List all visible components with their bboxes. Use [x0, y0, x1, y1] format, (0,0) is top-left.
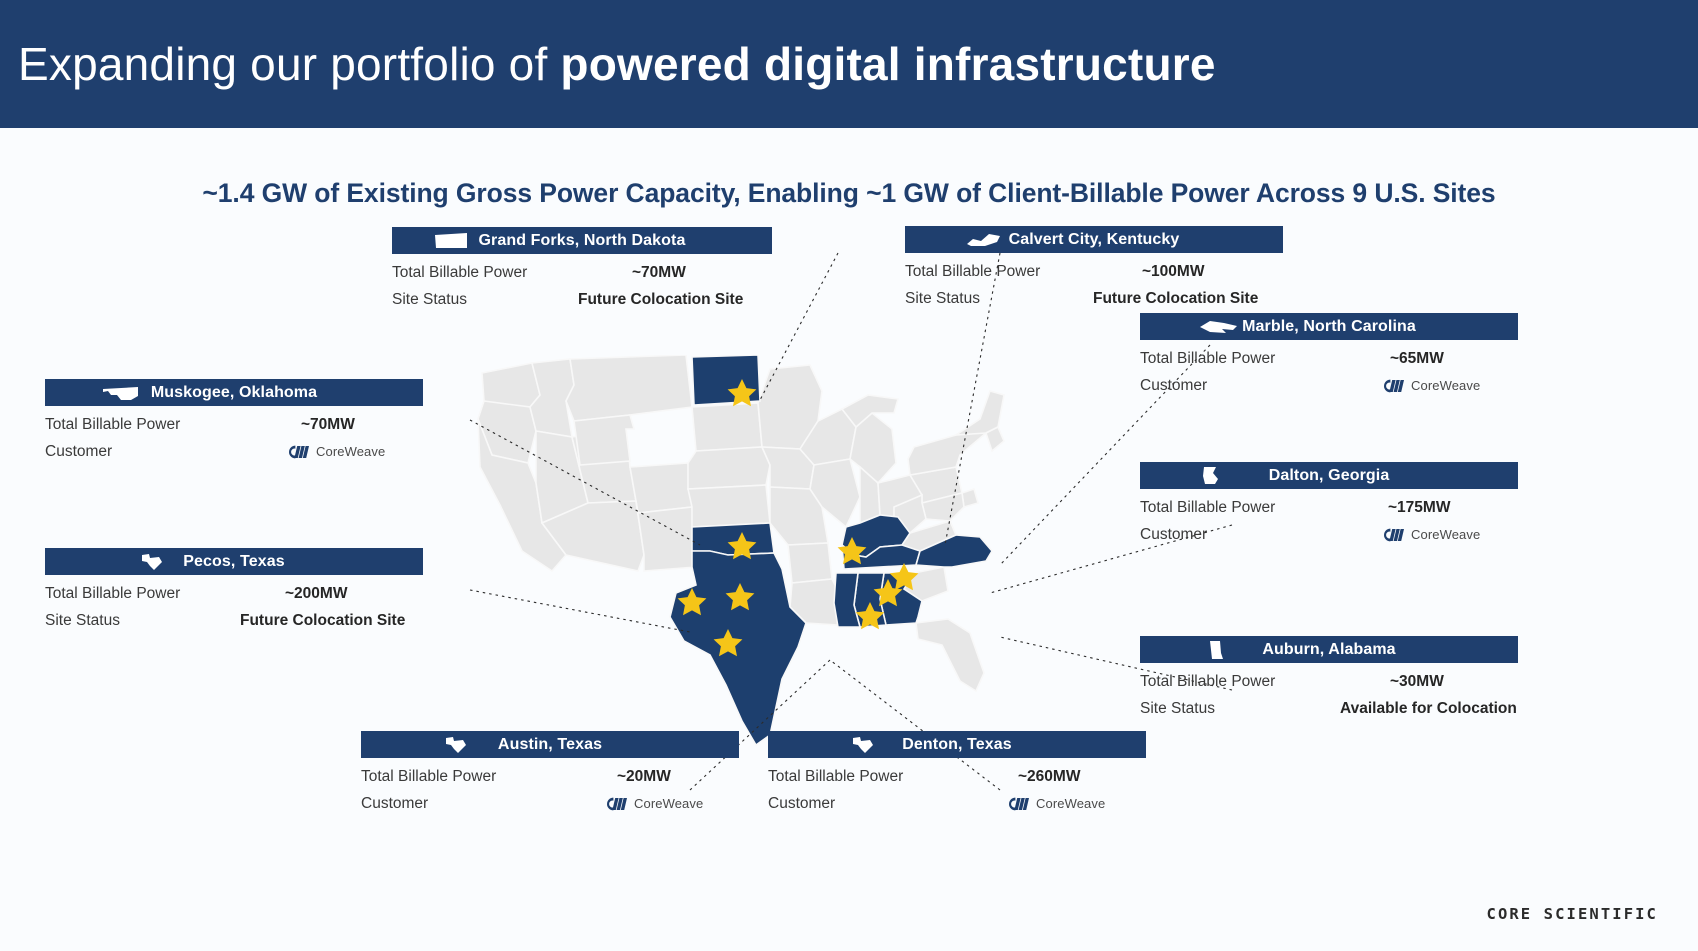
- row-value: ~65MW: [1390, 350, 1444, 368]
- site-card-pecos[interactable]: Pecos, Texas Total Billable Power ~200MW…: [45, 548, 423, 632]
- site-card-auburn[interactable]: Auburn, Alabama Total Billable Power ~30…: [1140, 636, 1518, 720]
- site-card-body-auburn: Total Billable Power ~30MW Site Status A…: [1140, 663, 1518, 720]
- coreweave-logo: CoreWeave: [1383, 527, 1480, 542]
- row-label: Customer: [1140, 377, 1207, 395]
- row-label: Customer: [361, 795, 428, 813]
- coreweave-wordmark: CoreWeave: [634, 796, 703, 811]
- subtitle: ~1.4 GW of Existing Gross Power Capacity…: [0, 178, 1698, 209]
- site-card-calvert-city[interactable]: Calvert City, Kentucky Total Billable Po…: [905, 226, 1283, 310]
- coreweave-logo: CoreWeave: [1383, 378, 1480, 393]
- row-label: Total Billable Power: [45, 416, 180, 434]
- site-card-header-pecos: Pecos, Texas: [45, 548, 423, 575]
- site-card-title: Dalton, Georgia: [1269, 467, 1390, 485]
- site-card-header-calvert-city: Calvert City, Kentucky: [905, 226, 1283, 253]
- row-value: ~70MW: [632, 264, 686, 282]
- site-card-title: Calvert City, Kentucky: [1009, 231, 1180, 249]
- row-label: Total Billable Power: [1140, 673, 1275, 691]
- north-dakota-icon: [434, 233, 468, 249]
- site-card-body-muskogee: Total Billable Power ~70MW Customer Core…: [45, 406, 423, 463]
- site-card-header-marble: Marble, North Carolina: [1140, 313, 1518, 340]
- coreweave-logo: CoreWeave: [1008, 796, 1105, 811]
- row-label: Total Billable Power: [361, 768, 496, 786]
- site-card-row: Total Billable Power ~30MW: [1140, 670, 1518, 693]
- site-card-body-grand-forks: Total Billable Power ~70MW Site Status F…: [392, 254, 772, 311]
- row-label: Site Status: [392, 291, 467, 309]
- slide-header: Expanding our portfolio of powered digit…: [0, 0, 1698, 128]
- page-title: Expanding our portfolio of powered digit…: [18, 28, 1216, 100]
- texas-icon: [852, 736, 874, 754]
- row-label: Total Billable Power: [392, 264, 527, 282]
- core-scientific-logo: CORE SCIENTIFIC: [1487, 905, 1658, 923]
- row-value: ~175MW: [1388, 499, 1450, 517]
- slide-root: Expanding our portfolio of powered digit…: [0, 0, 1698, 951]
- row-label: Total Billable Power: [1140, 350, 1275, 368]
- site-card-body-denton: Total Billable Power ~260MW Customer Cor…: [768, 758, 1146, 815]
- site-card-grand-forks[interactable]: Grand Forks, North Dakota Total Billable…: [392, 227, 772, 311]
- site-card-row: Customer CoreWeave: [768, 792, 1146, 815]
- coreweave-wordmark: CoreWeave: [1036, 796, 1105, 811]
- north-carolina-icon: [1200, 321, 1238, 334]
- row-label: Customer: [768, 795, 835, 813]
- site-card-row: Customer CoreWeave: [45, 440, 423, 463]
- row-value: Future Colocation Site: [240, 612, 405, 630]
- coreweave-mark-icon: [288, 445, 310, 459]
- row-label: Total Billable Power: [1140, 499, 1275, 517]
- row-value: ~200MW: [285, 585, 347, 603]
- site-card-row: Customer CoreWeave: [361, 792, 739, 815]
- site-card-title: Muskogee, Oklahoma: [151, 384, 317, 402]
- site-card-row: Total Billable Power ~100MW: [905, 260, 1283, 283]
- row-value: ~30MW: [1390, 673, 1444, 691]
- page-title-regular: Expanding our portfolio of: [18, 38, 560, 90]
- alabama-icon: [1208, 641, 1224, 660]
- row-value: Available for Colocation: [1340, 700, 1517, 718]
- us-map: [470, 355, 1090, 775]
- row-value: Future Colocation Site: [578, 291, 743, 309]
- site-card-body-dalton: Total Billable Power ~175MW Customer Cor…: [1140, 489, 1518, 546]
- row-value: Future Colocation Site: [1093, 290, 1258, 308]
- coreweave-mark-icon: [1383, 528, 1405, 542]
- georgia-icon: [1202, 467, 1222, 485]
- site-card-body-calvert-city: Total Billable Power ~100MW Site Status …: [905, 253, 1283, 310]
- row-label: Total Billable Power: [905, 263, 1040, 281]
- row-value: ~20MW: [617, 768, 671, 786]
- state-texas: [670, 551, 806, 745]
- row-label: Site Status: [45, 612, 120, 630]
- state-north-dakota: [692, 355, 760, 405]
- site-card-row: Total Billable Power ~20MW: [361, 765, 739, 788]
- site-card-row: Total Billable Power ~70MW: [392, 261, 772, 284]
- site-card-header-auburn: Auburn, Alabama: [1140, 636, 1518, 663]
- coreweave-wordmark: CoreWeave: [316, 444, 385, 459]
- row-value: ~260MW: [1018, 768, 1080, 786]
- site-card-row: Total Billable Power ~175MW: [1140, 496, 1518, 519]
- site-card-row: Total Billable Power ~70MW: [45, 413, 423, 436]
- row-label: Site Status: [1140, 700, 1215, 718]
- site-card-row: Site Status Available for Colocation: [1140, 697, 1518, 720]
- row-label: Customer: [45, 443, 112, 461]
- coreweave-mark-icon: [606, 797, 628, 811]
- site-card-row: Customer CoreWeave: [1140, 374, 1518, 397]
- site-card-row: Total Billable Power ~260MW: [768, 765, 1146, 788]
- site-card-title: Austin, Texas: [498, 736, 602, 754]
- coreweave-wordmark: CoreWeave: [1411, 378, 1480, 393]
- site-card-body-marble: Total Billable Power ~65MW Customer Core…: [1140, 340, 1518, 397]
- site-card-header-muskogee: Muskogee, Oklahoma: [45, 379, 423, 406]
- site-card-row: Site Status Future Colocation Site: [45, 609, 423, 632]
- coreweave-logo: CoreWeave: [606, 796, 703, 811]
- site-card-title: Marble, North Carolina: [1242, 318, 1416, 336]
- coreweave-mark-icon: [1008, 797, 1030, 811]
- oklahoma-icon: [103, 387, 139, 401]
- row-value: ~70MW: [301, 416, 355, 434]
- site-card-body-austin: Total Billable Power ~20MW Customer Core…: [361, 758, 739, 815]
- site-card-row: Site Status Future Colocation Site: [905, 287, 1283, 310]
- kentucky-icon: [967, 233, 1001, 247]
- texas-icon: [445, 736, 467, 754]
- site-card-header-grand-forks: Grand Forks, North Dakota: [392, 227, 772, 254]
- site-card-title: Denton, Texas: [902, 736, 1011, 754]
- site-card-muskogee[interactable]: Muskogee, Oklahoma Total Billable Power …: [45, 379, 423, 463]
- site-card-title: Pecos, Texas: [183, 553, 284, 571]
- row-value: ~100MW: [1142, 263, 1204, 281]
- coreweave-logo: CoreWeave: [288, 444, 385, 459]
- site-card-title: Auburn, Alabama: [1262, 641, 1395, 659]
- site-card-row: Total Billable Power ~200MW: [45, 582, 423, 605]
- site-card-row: Site Status Future Colocation Site: [392, 288, 772, 311]
- site-card-marble[interactable]: Marble, North Carolina Total Billable Po…: [1140, 313, 1518, 397]
- site-card-header-dalton: Dalton, Georgia: [1140, 462, 1518, 489]
- coreweave-wordmark: CoreWeave: [1411, 527, 1480, 542]
- site-card-header-austin: Austin, Texas: [361, 731, 739, 758]
- site-card-denton[interactable]: Denton, Texas Total Billable Power ~260M…: [768, 731, 1146, 815]
- site-card-header-denton: Denton, Texas: [768, 731, 1146, 758]
- coreweave-mark-icon: [1383, 379, 1405, 393]
- site-card-austin[interactable]: Austin, Texas Total Billable Power ~20MW…: [361, 731, 739, 815]
- row-label: Total Billable Power: [768, 768, 903, 786]
- site-card-row: Total Billable Power ~65MW: [1140, 347, 1518, 370]
- row-label: Site Status: [905, 290, 980, 308]
- site-card-title: Grand Forks, North Dakota: [479, 232, 686, 250]
- site-card-row: Customer CoreWeave: [1140, 523, 1518, 546]
- site-card-dalton[interactable]: Dalton, Georgia Total Billable Power ~17…: [1140, 462, 1518, 546]
- row-label: Total Billable Power: [45, 585, 180, 603]
- us-map-svg: [470, 355, 1090, 775]
- site-card-body-pecos: Total Billable Power ~200MW Site Status …: [45, 575, 423, 632]
- page-title-bold: powered digital infrastructure: [560, 38, 1215, 90]
- row-label: Customer: [1140, 526, 1207, 544]
- texas-icon: [141, 553, 163, 571]
